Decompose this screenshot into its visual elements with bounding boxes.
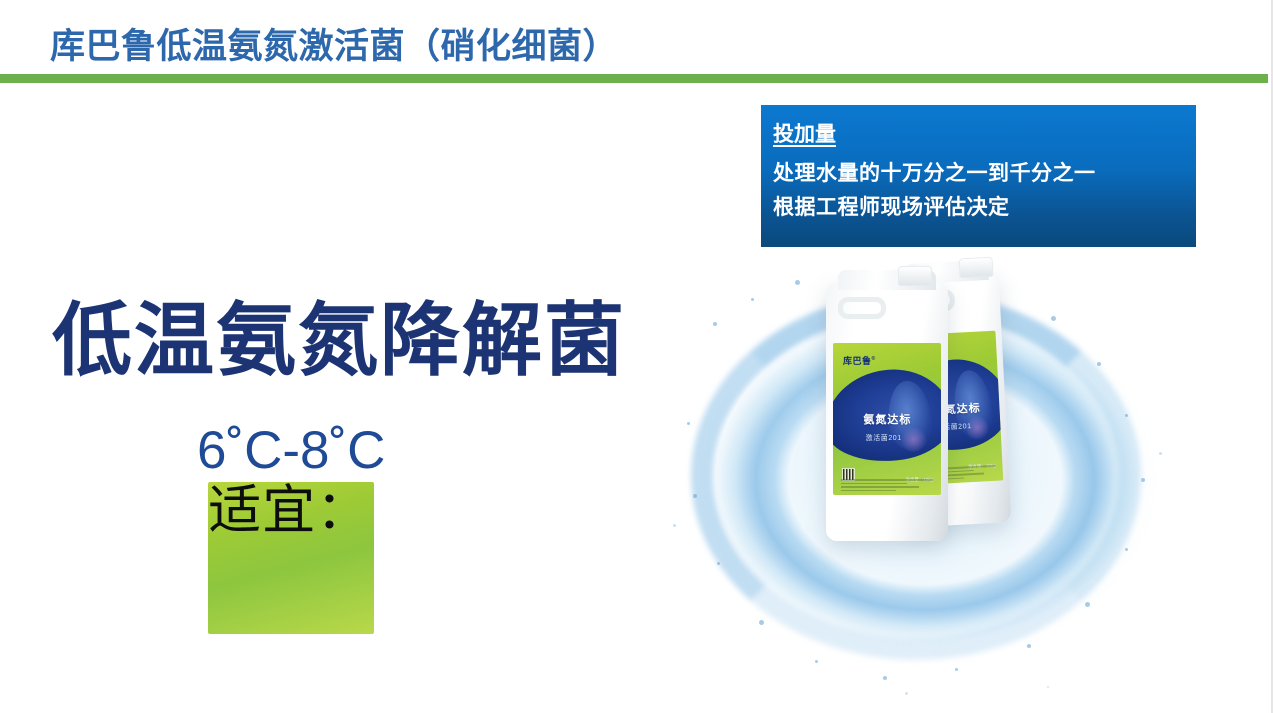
product-can-front: 库巴鲁® 氨氮达标 激活菌201 净含量：10kg [826, 283, 948, 541]
label-fineprint-front [841, 479, 933, 493]
temperature-value: 6˚C-8˚C [197, 421, 385, 480]
temperature-subline: 适宜：6˚C-8˚C [197, 422, 385, 480]
brand-name-front: 库巴鲁® [843, 354, 876, 367]
dosage-line-2: 根据工程师现场评估决定 [773, 191, 1196, 225]
product-name-front: 氨氮达标 [863, 411, 911, 427]
title-divider [0, 74, 1268, 83]
slide-canvas: 库巴鲁低温氨氮激活菌（硝化细菌） 投加量 处理水量的十万分之一到千分之一 根据工… [0, 0, 1273, 713]
dosage-heading: 投加量 [773, 123, 1196, 146]
can-handle [838, 297, 886, 319]
page-title: 库巴鲁低温氨氮激活菌（硝化细菌） [50, 26, 618, 68]
temperature-label: 适宜： [208, 482, 374, 634]
main-headline: 低温氨氮降解菌 [52, 299, 626, 383]
product-subname-front: 激活菌201 [866, 433, 902, 443]
can-cap [898, 266, 932, 286]
dosage-line-1: 处理水量的十万分之一到千分之一 [773, 157, 1196, 191]
product-label-front: 库巴鲁® 氨氮达标 激活菌201 净含量：10kg [833, 343, 940, 495]
dosage-callout: 投加量 处理水量的十万分之一到千分之一 根据工程师现场评估决定 [761, 105, 1196, 247]
can-cap [959, 257, 994, 279]
product-photo: 库巴鲁® 氨氮达标 激活菌201 净含量：10kg 库巴鲁® 氨氮达标 激活菌2… [655, 262, 1215, 702]
